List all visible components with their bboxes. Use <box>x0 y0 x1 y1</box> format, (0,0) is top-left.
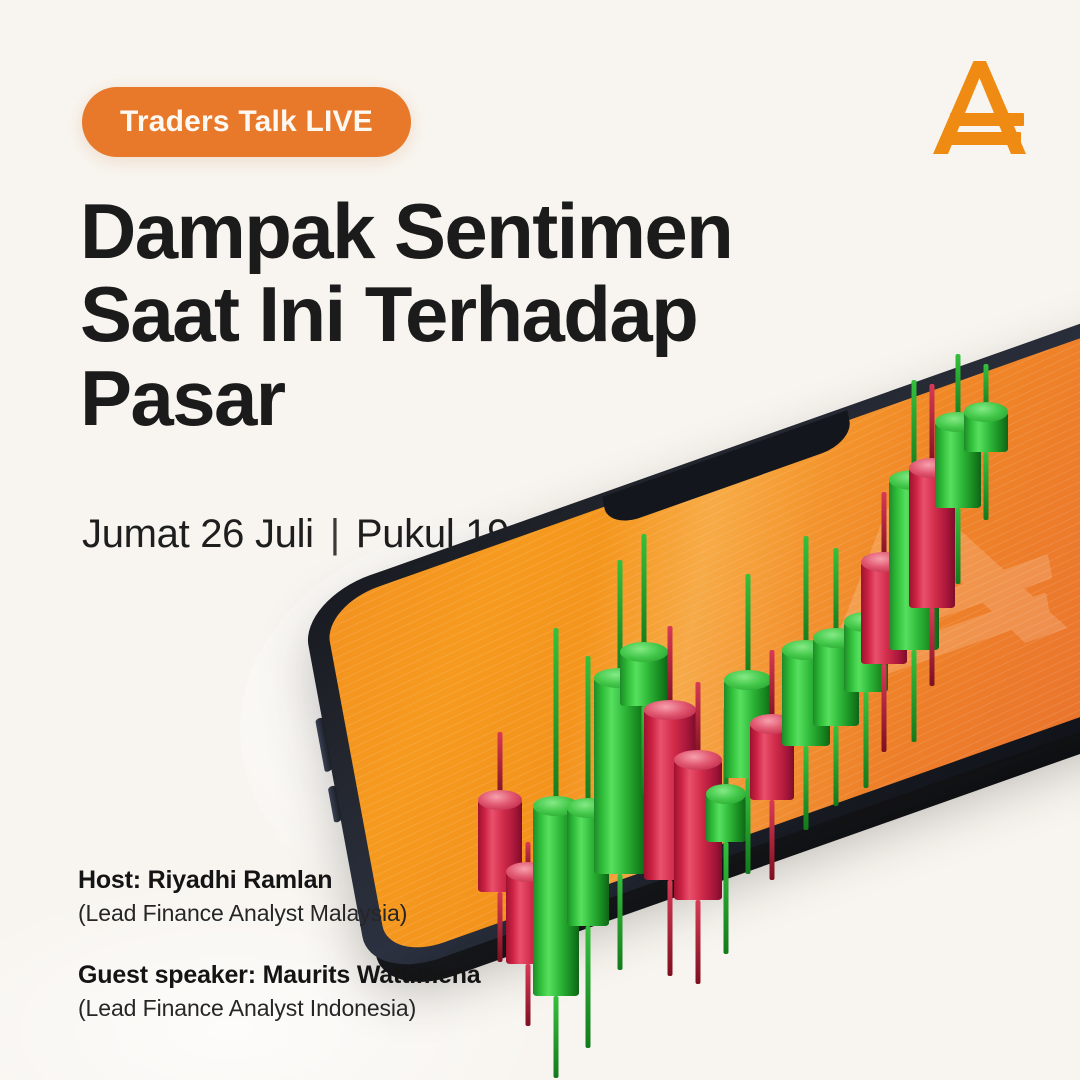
wick-lower <box>834 726 839 806</box>
candle-body <box>844 622 888 692</box>
headline-line-1: Dampak Sentimen <box>80 190 800 273</box>
candle-13-bullish <box>813 638 859 726</box>
candle-top-cap <box>506 862 550 882</box>
candle-top-cap <box>889 470 939 490</box>
event-date: Jumat 26 Juli <box>82 512 314 557</box>
wick-lower <box>864 692 869 788</box>
candle-1-bearish <box>478 800 522 892</box>
wick-lower <box>642 706 647 794</box>
wick-upper <box>804 536 809 650</box>
candle-top-cap <box>813 628 859 648</box>
candle-top-cap <box>909 458 955 478</box>
speaker-host: Host: Riyadhi Ramlan (Lead Finance Analy… <box>78 866 481 927</box>
event-datetime: Jumat 26 Juli | Pukul 19.00 WIB <box>82 512 649 557</box>
candle-body <box>813 638 859 726</box>
host-role: (Lead Finance Analyst Malaysia) <box>78 900 481 927</box>
candle-top-cap <box>620 642 668 662</box>
headline-line-3: Pasar <box>80 357 800 440</box>
candle-18-bullish <box>935 422 981 508</box>
wick-lower <box>746 778 751 874</box>
candle-top-cap <box>750 714 794 734</box>
screen-watermark-a-icon <box>748 434 1080 742</box>
wick-upper <box>554 628 559 806</box>
wick-lower <box>554 996 559 1078</box>
candle-19-bullish <box>964 412 1008 452</box>
candle-11-bearish <box>750 724 794 800</box>
wick-lower <box>882 664 887 752</box>
candle-body <box>567 808 609 926</box>
speaker-guest: Guest speaker: Maurits Wattimena (Lead F… <box>78 961 481 1022</box>
host-name: Host: Riyadhi Ramlan <box>78 866 481 895</box>
candle-top-cap <box>861 552 907 572</box>
speaker-list: Host: Riyadhi Ramlan (Lead Finance Analy… <box>78 866 481 1022</box>
wick-upper <box>770 650 775 724</box>
candle-4-bullish <box>567 808 609 926</box>
candle-12-bullish <box>782 650 830 746</box>
candle-top-cap <box>935 412 981 432</box>
candle-top-cap <box>674 750 722 770</box>
wick-lower <box>618 874 623 970</box>
live-badge-label: Traders Talk LIVE <box>120 105 373 139</box>
wick-upper <box>526 842 531 872</box>
wick-upper <box>668 626 673 710</box>
candle-top-cap <box>644 700 696 720</box>
octa-a-logo-icon <box>925 55 1035 160</box>
candle-body <box>964 412 1008 452</box>
wick-upper <box>498 732 503 800</box>
guest-role: (Lead Finance Analyst Indonesia) <box>78 995 481 1022</box>
wick-lower <box>770 800 775 880</box>
candle-10-bullish <box>724 680 772 778</box>
candle-top-cap <box>844 612 888 632</box>
candle-6-bullish <box>620 652 668 706</box>
wick-upper <box>724 708 729 794</box>
wick-lower <box>586 926 591 1048</box>
candle-body <box>506 872 550 964</box>
page-title: Dampak Sentimen Saat Ini Terhadap Pasar <box>80 190 800 440</box>
wick-lower <box>956 508 961 584</box>
wick-upper <box>882 492 887 562</box>
candle-14-bullish <box>844 622 888 692</box>
candle-16-bullish <box>889 480 939 650</box>
wick-upper <box>912 380 917 480</box>
candle-17-bearish <box>909 468 955 608</box>
candle-7-bearish <box>644 710 696 880</box>
candle-body <box>782 650 830 746</box>
candle-15-bearish <box>861 562 907 664</box>
candle-body <box>935 422 981 508</box>
candle-top-cap <box>478 790 522 810</box>
phone-volume-button <box>315 717 332 773</box>
candle-3-bullish <box>533 806 579 996</box>
headline-line-2: Saat Ini Terhadap <box>80 273 800 356</box>
poster-canvas: Traders Talk LIVE Dampak Sentimen Saat I… <box>0 0 1080 1080</box>
candle-body <box>750 724 794 800</box>
wick-lower <box>498 892 503 962</box>
wick-lower <box>804 746 809 830</box>
wick-upper <box>930 384 935 468</box>
wick-upper <box>746 574 751 680</box>
wick-lower <box>526 964 531 1026</box>
wick-lower <box>696 900 701 984</box>
wick-upper <box>834 548 839 638</box>
wick-upper <box>696 682 701 760</box>
wick-upper <box>956 354 961 422</box>
candle-body <box>620 652 668 706</box>
candle-top-cap <box>964 402 1008 422</box>
candle-top-cap <box>706 784 746 804</box>
candle-top-cap <box>594 668 646 688</box>
datetime-separator: | <box>330 512 340 557</box>
candle-9-bullish <box>706 794 746 842</box>
candle-body <box>533 806 579 996</box>
wick-lower <box>930 608 935 686</box>
candle-body <box>909 468 955 608</box>
candle-top-cap <box>782 640 830 660</box>
candle-2-bearish <box>506 872 550 964</box>
candle-5-bullish <box>594 678 646 874</box>
wick-upper <box>586 656 591 808</box>
wick-lower <box>724 842 729 954</box>
event-time: Pukul 19.00 WIB <box>356 512 649 557</box>
candle-body <box>478 800 522 892</box>
wick-upper <box>618 560 623 678</box>
wick-lower <box>668 880 673 976</box>
phone-power-button <box>328 785 342 823</box>
candle-body <box>644 710 696 880</box>
wick-upper <box>864 556 869 622</box>
wick-lower <box>984 452 989 520</box>
candle-body <box>594 678 646 874</box>
candle-body <box>706 794 746 842</box>
guest-name: Guest speaker: Maurits Wattimena <box>78 961 481 990</box>
candle-body <box>861 562 907 664</box>
wick-upper <box>984 364 989 412</box>
candle-body <box>889 480 939 650</box>
candle-body <box>724 680 772 778</box>
candle-top-cap <box>724 670 772 690</box>
candle-8-bearish <box>674 760 722 900</box>
wick-lower <box>912 650 917 742</box>
candle-top-cap <box>533 796 579 816</box>
candle-body <box>674 760 722 900</box>
candle-top-cap <box>567 798 609 818</box>
live-badge[interactable]: Traders Talk LIVE <box>82 87 411 157</box>
